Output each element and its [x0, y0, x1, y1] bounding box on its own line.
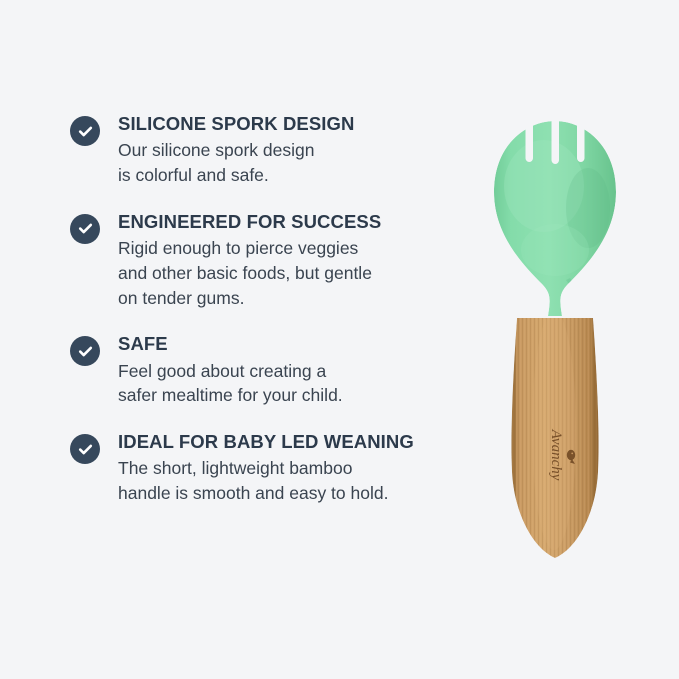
check-circle-icon — [70, 434, 100, 464]
feature-description-line: and other basic foods, but gentle — [118, 261, 470, 286]
feature-description-line: Rigid enough to pierce veggies — [118, 236, 470, 261]
feature-description-line: Feel good about creating a — [118, 359, 470, 384]
feature-description-line: Our silicone spork design — [118, 138, 470, 163]
brand-logo-text: Avanchy — [548, 429, 564, 481]
feature-description-line: handle is smooth and easy to hold. — [118, 481, 470, 506]
feature-description: The short, lightweight bamboo handle is … — [118, 456, 470, 506]
check-circle-icon — [70, 336, 100, 366]
feature-description: Our silicone spork design is colorful an… — [118, 138, 470, 188]
feature-title: IDEAL FOR BABY LED WEANING — [118, 430, 470, 453]
feature-item-ideal-for-baby-led-weaning: IDEAL FOR BABY LED WEANING The short, li… — [70, 430, 470, 506]
feature-description-line: on tender gums. — [118, 286, 470, 311]
feature-title: ENGINEERED FOR SUCCESS — [118, 210, 470, 233]
check-circle-icon — [70, 214, 100, 244]
feature-title: SAFE — [118, 332, 470, 355]
bamboo-handle: Avanchy — [505, 310, 605, 570]
feature-description: Rigid enough to pierce veggies and other… — [118, 236, 470, 311]
feature-description-line: safer mealtime for your child. — [118, 383, 470, 408]
product-image-spork: Avanchy — [470, 100, 640, 580]
feature-description: Feel good about creating a safer mealtim… — [118, 359, 470, 409]
product-infographic: SILICONE SPORK DESIGN Our silicone spork… — [0, 0, 679, 679]
feature-description-line: The short, lightweight bamboo — [118, 456, 470, 481]
feature-list: SILICONE SPORK DESIGN Our silicone spork… — [70, 112, 470, 506]
feature-item-silicone-spork-design: SILICONE SPORK DESIGN Our silicone spork… — [70, 112, 470, 188]
feature-item-safe: SAFE Feel good about creating a safer me… — [70, 332, 470, 408]
feature-title: SILICONE SPORK DESIGN — [118, 112, 470, 135]
feature-item-engineered-for-success: ENGINEERED FOR SUCCESS Rigid enough to p… — [70, 210, 470, 311]
feature-description-line: is colorful and safe. — [118, 163, 470, 188]
check-circle-icon — [70, 116, 100, 146]
